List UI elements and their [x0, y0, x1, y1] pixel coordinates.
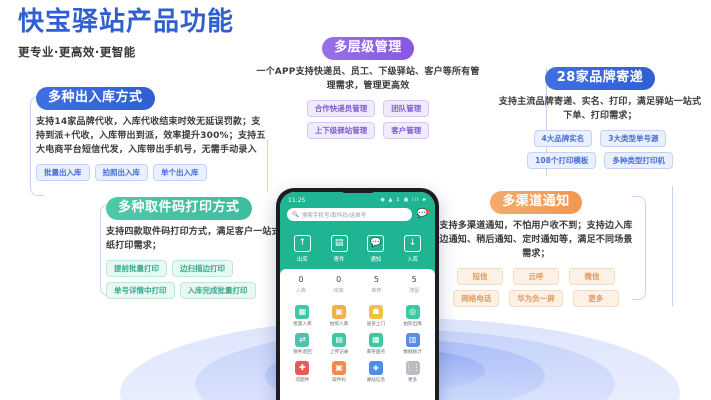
panel-print-description: 支持四款取件码打印方式，满足客户一站式贴纸打印需求； — [106, 226, 291, 254]
app-icon: ▦ — [295, 305, 309, 319]
app-icon: ⋮⋮ — [406, 361, 420, 375]
panel-notify: 多渠道通知 支持多渠道通知，不怕用户收不到；支持边入库边通知、稍后通知、定时通知… — [436, 190, 636, 312]
panel-brand-tags: 4大品牌实名 3大类型单号源 108个打印模板 多种类型打印机 — [495, 130, 705, 174]
phone-notch — [341, 189, 375, 193]
page-header: 快宝驿站产品功能 更专业·更高效·更智能 — [18, 8, 234, 60]
app-grid-item[interactable]: ◈驿站信息 — [358, 361, 395, 383]
search-input[interactable]: 🔍 搜索手机号/取件码/运单号 — [287, 208, 412, 221]
panel-print-tags: 提前批量打印 边扫描边打印 单号详情中打印 入库完成批量打印 — [106, 260, 291, 304]
app-grid-item[interactable]: ☗送货上门 — [358, 305, 395, 327]
app-grid-item[interactable]: ▣拍照入库 — [321, 305, 358, 327]
tag-item[interactable]: 客户管理 — [383, 122, 429, 139]
app-label: 快件退回 — [284, 349, 321, 355]
panel-print-badge: 多种取件码打印方式 — [106, 197, 252, 220]
stat-value: 5 — [371, 275, 381, 285]
panel-notify-tags: 短信 云呼 微信 网络电话 华为负一屏 更多 — [436, 268, 636, 312]
search-placeholder: 搜索手机号/取件码/运单号 — [302, 211, 366, 219]
app-icon: ▣ — [332, 361, 346, 375]
app-grid-item[interactable]: ▤上传记录 — [321, 333, 358, 355]
panel-print: 多种取件码打印方式 支持四款取件码打印方式，满足客户一站式贴纸打印需求； 提前批… — [106, 196, 291, 304]
connector-line-notify — [672, 186, 673, 306]
tag-item[interactable]: 网络电话 — [453, 290, 499, 307]
app-icon: ▤ — [332, 333, 346, 347]
app-header: 🔍 搜索手机号/取件码/运单号 💬 — [280, 205, 435, 227]
quick-action-send[interactable]: ▤ 寄件 — [331, 235, 348, 263]
panel-inout-badge: 多种出入库方式 — [36, 87, 155, 110]
tag-item[interactable]: 批量出入库 — [36, 164, 90, 181]
app-icon: ✚ — [295, 361, 309, 375]
app-icon: ▣ — [332, 305, 346, 319]
stat-label: 入库 — [296, 287, 306, 294]
message-icon[interactable]: 💬 — [417, 210, 428, 219]
connector-line-multilevel — [267, 140, 268, 192]
phone-screen: 11:25 ◉ ▲ ↕ ▣ ⁞⁞l ▰ 🔍 搜索手机号/取件码/运单号 💬 ↑ … — [280, 192, 435, 400]
message-badge-dot — [426, 209, 430, 213]
tag-item[interactable]: 团队管理 — [383, 100, 429, 117]
stat-value: 0 — [296, 275, 306, 285]
app-grid-item[interactable]: ✚问题件 — [284, 361, 321, 383]
status-time: 11:25 — [288, 197, 305, 204]
tag-item[interactable]: 华为负一屏 — [509, 290, 563, 307]
app-label: 批量入库 — [284, 321, 321, 327]
app-grid-item[interactable]: ▥数据统计 — [394, 333, 431, 355]
app-label: 上传记录 — [321, 349, 358, 355]
app-grid: ▦批量入库▣拍照入库☗送货上门◎拍照出库⇄快件退回▤上传记录▦库存盘点▥数据统计… — [280, 299, 435, 383]
notify-icon: 💬 — [367, 235, 384, 252]
stat-label: 出库 — [334, 287, 344, 294]
app-label: 送货上门 — [358, 321, 395, 327]
tag-item[interactable]: 短信 — [457, 268, 503, 285]
tag-item[interactable]: 3大类型单号源 — [600, 130, 666, 147]
tag-item[interactable]: 云呼 — [513, 268, 559, 285]
app-label: 问题件 — [284, 377, 321, 383]
panel-notify-description: 支持多渠道通知，不怕用户收不到；支持边入库边通知、稍后通知、定时通知等，满足不同… — [436, 220, 636, 262]
tag-item[interactable]: 单个出入库 — [153, 164, 207, 181]
tag-item[interactable]: 108个打印模板 — [527, 152, 596, 169]
search-row: 🔍 搜索手机号/取件码/运单号 💬 — [287, 208, 428, 221]
quick-action-label: 寄件 — [331, 255, 348, 263]
app-grid-item[interactable]: ⇄快件退回 — [284, 333, 321, 355]
app-icon: ☗ — [369, 305, 383, 319]
stat-overdue[interactable]: 5 滞留 — [409, 275, 419, 294]
tag-item[interactable]: 单号详情中打印 — [106, 282, 175, 299]
panel-brand-badge: 28家品牌寄递 — [545, 67, 656, 90]
tag-item[interactable]: 拍照出入库 — [95, 164, 149, 181]
page-title: 快宝驿站产品功能 — [18, 8, 234, 38]
app-icon: ◎ — [406, 305, 420, 319]
tag-item[interactable]: 入库完成批量打印 — [180, 282, 256, 299]
quick-action-label: 入库 — [404, 255, 421, 263]
tag-item[interactable]: 4大品牌实名 — [534, 130, 593, 147]
quick-action-row: ↑ 出库 ▤ 寄件 💬 通知 ↓ 入库 — [280, 227, 435, 275]
panel-multilevel: 多层级管理 一个APP支持快递员、员工、下级驿站、客户等所有管理需求，管理更高效… — [252, 36, 484, 144]
tag-item[interactable]: 合作快递员管理 — [307, 100, 376, 117]
app-icon: ◈ — [369, 361, 383, 375]
panel-inout: 多种出入库方式 支持14家品牌代收，入库代收结束时效无延误罚款；支持到派+代收，… — [36, 86, 266, 186]
panel-brand-description: 支持主流品牌寄递、实名、打印，满足驿站一站式下单、打印需求； — [495, 96, 705, 124]
app-label: 数据统计 — [394, 349, 431, 355]
panel-multilevel-tags: 合作快递员管理 团队管理 上下级驿站管理 客户管理 — [252, 100, 484, 144]
page-subtitle: 更专业·更高效·更智能 — [18, 44, 234, 60]
app-label: 驿站信息 — [358, 377, 395, 383]
status-icons: ◉ ▲ ↕ ▣ ⁞⁞l ▰ — [381, 197, 427, 203]
stat-value: 0 — [334, 275, 344, 285]
stat-value: 5 — [409, 275, 419, 285]
search-icon: 🔍 — [292, 212, 299, 218]
panel-brand: 28家品牌寄递 支持主流品牌寄递、实名、打印，满足驿站一站式下单、打印需求； 4… — [495, 66, 705, 174]
app-grid-item[interactable]: ◎拍照出库 — [394, 305, 431, 327]
app-label: 取件码 — [321, 377, 358, 383]
tag-item[interactable]: 边扫描边打印 — [172, 260, 233, 277]
tag-item[interactable]: 提前批量打印 — [106, 260, 167, 277]
phone-status-bar: 11:25 ◉ ▲ ↕ ▣ ⁞⁞l ▰ — [280, 192, 435, 205]
send-parcel-icon: ▤ — [331, 235, 348, 252]
panel-multilevel-badge: 多层级管理 — [322, 37, 414, 60]
stat-label: 库存 — [371, 287, 381, 294]
stat-stock[interactable]: 5 库存 — [371, 275, 381, 294]
quick-action-label: 出库 — [294, 255, 311, 263]
app-grid-item[interactable]: ▦库存盘点 — [358, 333, 395, 355]
panel-inout-tags: 批量出入库 拍照出入库 单个出入库 — [36, 164, 266, 186]
app-label: 库存盘点 — [358, 349, 395, 355]
tag-item[interactable]: 上下级驿站管理 — [307, 122, 376, 139]
quick-action-inbound[interactable]: ↓ 入库 — [404, 235, 421, 263]
panel-notify-badge: 多渠道通知 — [490, 191, 582, 214]
inbound-icon: ↓ — [404, 235, 421, 252]
quick-action-label: 通知 — [367, 255, 384, 263]
panel-multilevel-description: 一个APP支持快递员、员工、下级驿站、客户等所有管理需求，管理更高效 — [252, 66, 484, 94]
app-grid-item[interactable]: ⋮⋮更多 — [394, 361, 431, 383]
quick-action-notify[interactable]: 💬 通知 — [367, 235, 384, 263]
panel-inout-description: 支持14家品牌代收，入库代收结束时效无延误罚款；支持到派+代收，入库带出到派，效… — [36, 116, 266, 158]
stats-row: 0 入库 0 出库 5 库存 5 滞留 — [280, 269, 435, 299]
app-icon: ⇄ — [295, 333, 309, 347]
stat-inbound[interactable]: 0 入库 — [296, 275, 306, 294]
stat-label: 滞留 — [409, 287, 419, 294]
phone-mockup: 11:25 ◉ ▲ ↕ ▣ ⁞⁞l ▰ 🔍 搜索手机号/取件码/运单号 💬 ↑ … — [276, 188, 439, 400]
app-label: 更多 — [394, 377, 431, 383]
tag-item[interactable]: 多种类型打印机 — [604, 152, 673, 169]
tag-item[interactable]: 微信 — [569, 268, 615, 285]
app-grid-item[interactable]: ▣取件码 — [321, 361, 358, 383]
app-icon: ▦ — [369, 333, 383, 347]
app-icon: ▥ — [406, 333, 420, 347]
tag-item[interactable]: 更多 — [573, 290, 619, 307]
app-label: 拍照入库 — [321, 321, 358, 327]
app-grid-item[interactable]: ▦批量入库 — [284, 305, 321, 327]
stat-outbound[interactable]: 0 出库 — [334, 275, 344, 294]
quick-action-outbound[interactable]: ↑ 出库 — [294, 235, 311, 263]
outbound-icon: ↑ — [294, 235, 311, 252]
app-label: 拍照出库 — [394, 321, 431, 327]
